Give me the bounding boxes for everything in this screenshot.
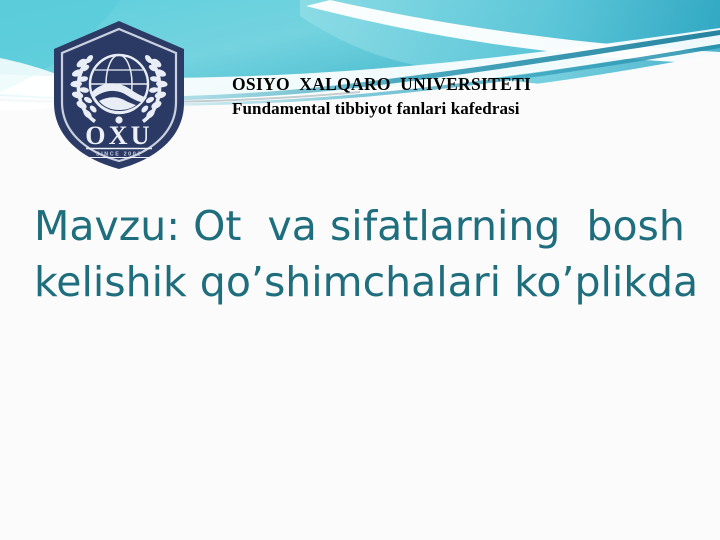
logo-abbreviation: OXU: [85, 121, 152, 150]
slide-title-line-2: kelishik qo’shimchalari ko’plikda: [34, 254, 694, 310]
university-name: OSIYO XALQARO UNIVERSITETI: [232, 72, 692, 96]
slide-title-line-1: Mavzu: Ot va sifatlarning bosh: [34, 198, 694, 254]
slide-title: Mavzu: Ot va sifatlarning bosh kelishik …: [34, 198, 694, 310]
institution-header: OSIYO XALQARO UNIVERSITETI Fundamental t…: [232, 72, 692, 121]
presentation-slide: OXU SINCE 2002 OSIYO XALQARO UNIVERSITET…: [0, 0, 720, 540]
logo-founded-text: SINCE 2002: [96, 152, 142, 158]
oxu-university-shield-logo: OXU SINCE 2002: [48, 19, 190, 171]
department-name: Fundamental tibbiyot fanlari kafedrasi: [232, 96, 692, 121]
